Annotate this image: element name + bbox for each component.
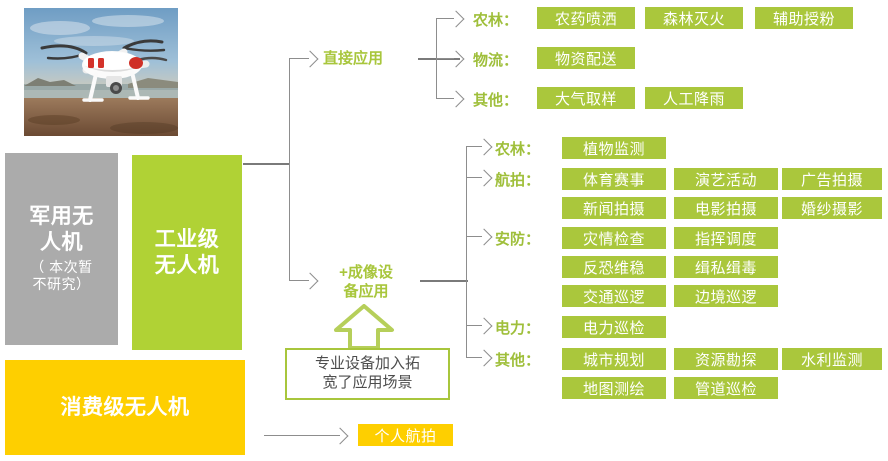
diagram-canvas: 军用无 人机 （ 本次暂 不研究） 工业级 无人机 消费级无人机 直接应用 +成… bbox=[0, 0, 888, 461]
drone-photo-illustration bbox=[24, 8, 178, 136]
arrow-consumer-icon bbox=[332, 428, 349, 445]
chip-direct-0-1[interactable]: 森林灭火 bbox=[645, 7, 743, 29]
cat-label-imaging-0: 农林： bbox=[495, 138, 540, 159]
connector-industrial-stem bbox=[243, 163, 290, 165]
chip-imaging-1-0[interactable]: 体育赛事 bbox=[562, 168, 666, 190]
chip-direct-2-1[interactable]: 人工降雨 bbox=[645, 87, 743, 109]
chip-imaging-4-1[interactable]: 资源勘探 bbox=[674, 348, 778, 370]
connector-consumer bbox=[264, 435, 340, 436]
military-title-line2: 人机 bbox=[40, 230, 83, 256]
cat-label-imaging-4: 其他： bbox=[495, 349, 540, 370]
arrow-to-direct-icon bbox=[302, 51, 319, 68]
node-imaging-application[interactable]: +成像设 备应用 bbox=[327, 264, 405, 302]
chip-imaging-2-3[interactable]: 缉私缉毒 bbox=[674, 256, 778, 278]
arrow-imaging-row-3-icon bbox=[476, 318, 493, 335]
cat-label-imaging-1: 航拍： bbox=[495, 169, 540, 190]
chip-direct-2-0[interactable]: 大气取样 bbox=[537, 87, 635, 109]
chip-consumer-0[interactable]: 个人航拍 bbox=[358, 424, 453, 446]
callout-up-arrow-icon bbox=[332, 304, 396, 350]
connector-industrial-spine bbox=[289, 58, 290, 280]
chip-imaging-1-4[interactable]: 电影拍摄 bbox=[674, 197, 778, 219]
cat-label-direct-0: 农林： bbox=[473, 9, 518, 30]
industrial-title-line1: 工业级 bbox=[155, 227, 220, 253]
chip-direct-1-0[interactable]: 物资配送 bbox=[537, 47, 635, 69]
cat-label-imaging-3: 电力： bbox=[495, 317, 540, 338]
chip-imaging-4-2[interactable]: 水利监测 bbox=[782, 348, 882, 370]
callout-box: 专业设备加入拓 宽了应用场景 bbox=[285, 348, 450, 400]
block-industrial-drone[interactable]: 工业级 无人机 bbox=[132, 155, 242, 350]
chip-imaging-4-3[interactable]: 地图测绘 bbox=[562, 377, 666, 399]
imaging-label-line2: 备应用 bbox=[327, 283, 405, 302]
block-consumer-drone[interactable]: 消费级无人机 bbox=[5, 360, 245, 455]
chip-imaging-1-5[interactable]: 婚纱摄影 bbox=[782, 197, 882, 219]
chip-imaging-0-0[interactable]: 植物监测 bbox=[562, 137, 666, 159]
arrow-direct-row-2-icon bbox=[448, 91, 465, 108]
node-direct-application[interactable]: 直接应用 bbox=[323, 50, 383, 69]
chip-imaging-2-0[interactable]: 灾情检查 bbox=[562, 227, 666, 249]
arrow-imaging-row-4-icon bbox=[476, 350, 493, 367]
arrow-imaging-row-2-icon bbox=[476, 229, 493, 246]
chip-direct-0-0[interactable]: 农药喷洒 bbox=[537, 7, 635, 29]
industrial-title-line2: 无人机 bbox=[155, 253, 220, 279]
chip-imaging-4-4[interactable]: 管道巡检 bbox=[674, 377, 778, 399]
chip-imaging-2-1[interactable]: 指挥调度 bbox=[674, 227, 778, 249]
arrow-imaging-row-1-icon bbox=[476, 170, 493, 187]
chip-imaging-1-2[interactable]: 广告拍摄 bbox=[782, 168, 882, 190]
chip-imaging-4-0[interactable]: 城市规划 bbox=[562, 348, 666, 370]
consumer-title: 消费级无人机 bbox=[61, 395, 190, 421]
chip-imaging-2-2[interactable]: 反恐维稳 bbox=[562, 256, 666, 278]
chip-imaging-1-3[interactable]: 新闻拍摄 bbox=[562, 197, 666, 219]
arrow-direct-row-1-icon bbox=[448, 51, 465, 68]
cat-label-direct-2: 其他： bbox=[473, 89, 518, 110]
chip-imaging-1-1[interactable]: 演艺活动 bbox=[674, 168, 778, 190]
callout-line2: 宽了应用场景 bbox=[315, 374, 420, 393]
drone-photo bbox=[24, 8, 178, 136]
military-title-line1: 军用无 bbox=[29, 204, 94, 230]
cat-label-imaging-2: 安防： bbox=[495, 228, 540, 249]
arrow-direct-row-0-icon bbox=[448, 11, 465, 28]
chip-imaging-2-4[interactable]: 交通巡逻 bbox=[562, 285, 666, 307]
block-military-drone[interactable]: 军用无 人机 （ 本次暂 不研究） bbox=[5, 153, 118, 345]
callout-line1: 专业设备加入拓 bbox=[315, 355, 420, 374]
cat-label-direct-1: 物流： bbox=[473, 49, 518, 70]
chip-imaging-3-0[interactable]: 电力巡检 bbox=[562, 316, 666, 338]
chip-direct-0-2[interactable]: 辅助授粉 bbox=[755, 7, 853, 29]
imaging-label-line1: +成像设 bbox=[327, 264, 405, 283]
connector-imaging-stem bbox=[420, 280, 468, 282]
military-note-line2: 不研究） bbox=[33, 276, 91, 294]
chip-imaging-2-5[interactable]: 边境巡逻 bbox=[674, 285, 778, 307]
arrow-imaging-row-0-icon bbox=[476, 139, 493, 156]
military-note-line1: （ 本次暂 bbox=[30, 259, 92, 277]
arrow-to-imaging-icon bbox=[302, 273, 319, 290]
